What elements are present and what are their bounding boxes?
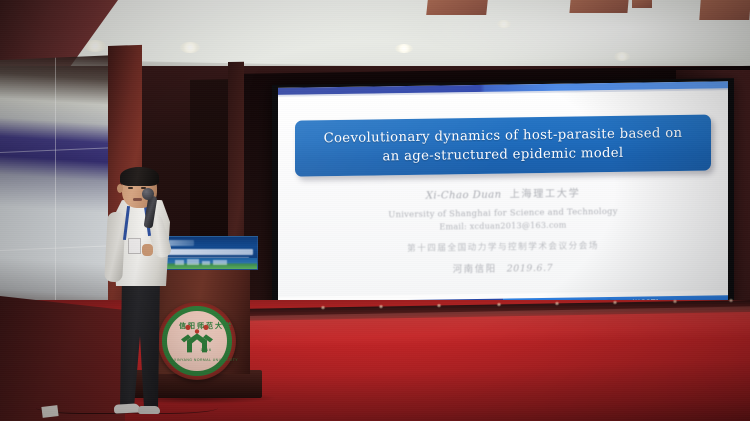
speaker-ear	[117, 184, 123, 193]
seal-ring: 信阳师范大学 1916 XINYANG NORMAL UNIVERSITY	[162, 306, 232, 376]
slide-metadata-block: Xi-Chao Duan上海理工大学 University of Shangha…	[278, 182, 728, 278]
ceiling-wood-panel	[632, 0, 652, 8]
slide-author: Xi-Chao Duan上海理工大学	[426, 184, 581, 201]
speaker-hand	[142, 244, 153, 256]
conference-room-photo: Coevolutionary dynamics of host-parasite…	[0, 0, 750, 421]
projection-screen: Coevolutionary dynamics of host-parasite…	[272, 78, 734, 317]
speaker-shoe-right	[138, 406, 160, 414]
seal-english-text: XINYANG NORMAL UNIVERSITY	[173, 358, 239, 362]
ceiling-light	[180, 42, 200, 53]
speaker-arm-left	[104, 212, 126, 283]
ceiling-wood-panel	[426, 0, 488, 15]
speaker-shoe-left	[114, 403, 140, 413]
slide-place: 河南信阳	[453, 263, 497, 275]
slide-place-date: 河南信阳2019.6.7	[453, 260, 553, 275]
university-seal: 信阳师范大学 1916 XINYANG NORMAL UNIVERSITY	[158, 302, 236, 380]
microphone-head-icon	[142, 188, 154, 200]
slide-author-affiliation-cn: 上海理工大学	[510, 188, 581, 200]
ceiling-wood-panel	[569, 0, 628, 13]
seal-year: 1916	[167, 347, 245, 352]
slide-email: Email: xcduan2013@163.com	[439, 220, 566, 232]
ceiling-light	[395, 44, 413, 53]
speaker-eye-left	[128, 187, 133, 189]
slide-date: 2019.6.7	[507, 263, 554, 275]
presentation-slide: Coevolutionary dynamics of host-parasite…	[278, 81, 728, 314]
speaker-name-badge	[128, 238, 141, 254]
slide-conference-name: 第十四届全国动力学与控制学术会议分会场	[407, 239, 599, 254]
floor-paper	[41, 405, 58, 418]
ceiling-light	[497, 20, 511, 28]
slide-author-name: Xi-Chao Duan	[426, 190, 502, 202]
slide-institution: University of Shanghai for Science and T…	[388, 206, 617, 219]
ceiling-light	[614, 52, 630, 61]
slide-body: Coevolutionary dynamics of host-parasite…	[278, 90, 728, 297]
slide-title-box: Coevolutionary dynamics of host-parasite…	[295, 114, 711, 176]
ceiling-wood-panel	[699, 0, 750, 20]
speaker-hair	[120, 167, 159, 186]
speaker-mouth	[133, 198, 142, 201]
slide-title-line-2: an age-structured epidemic model	[382, 144, 623, 167]
